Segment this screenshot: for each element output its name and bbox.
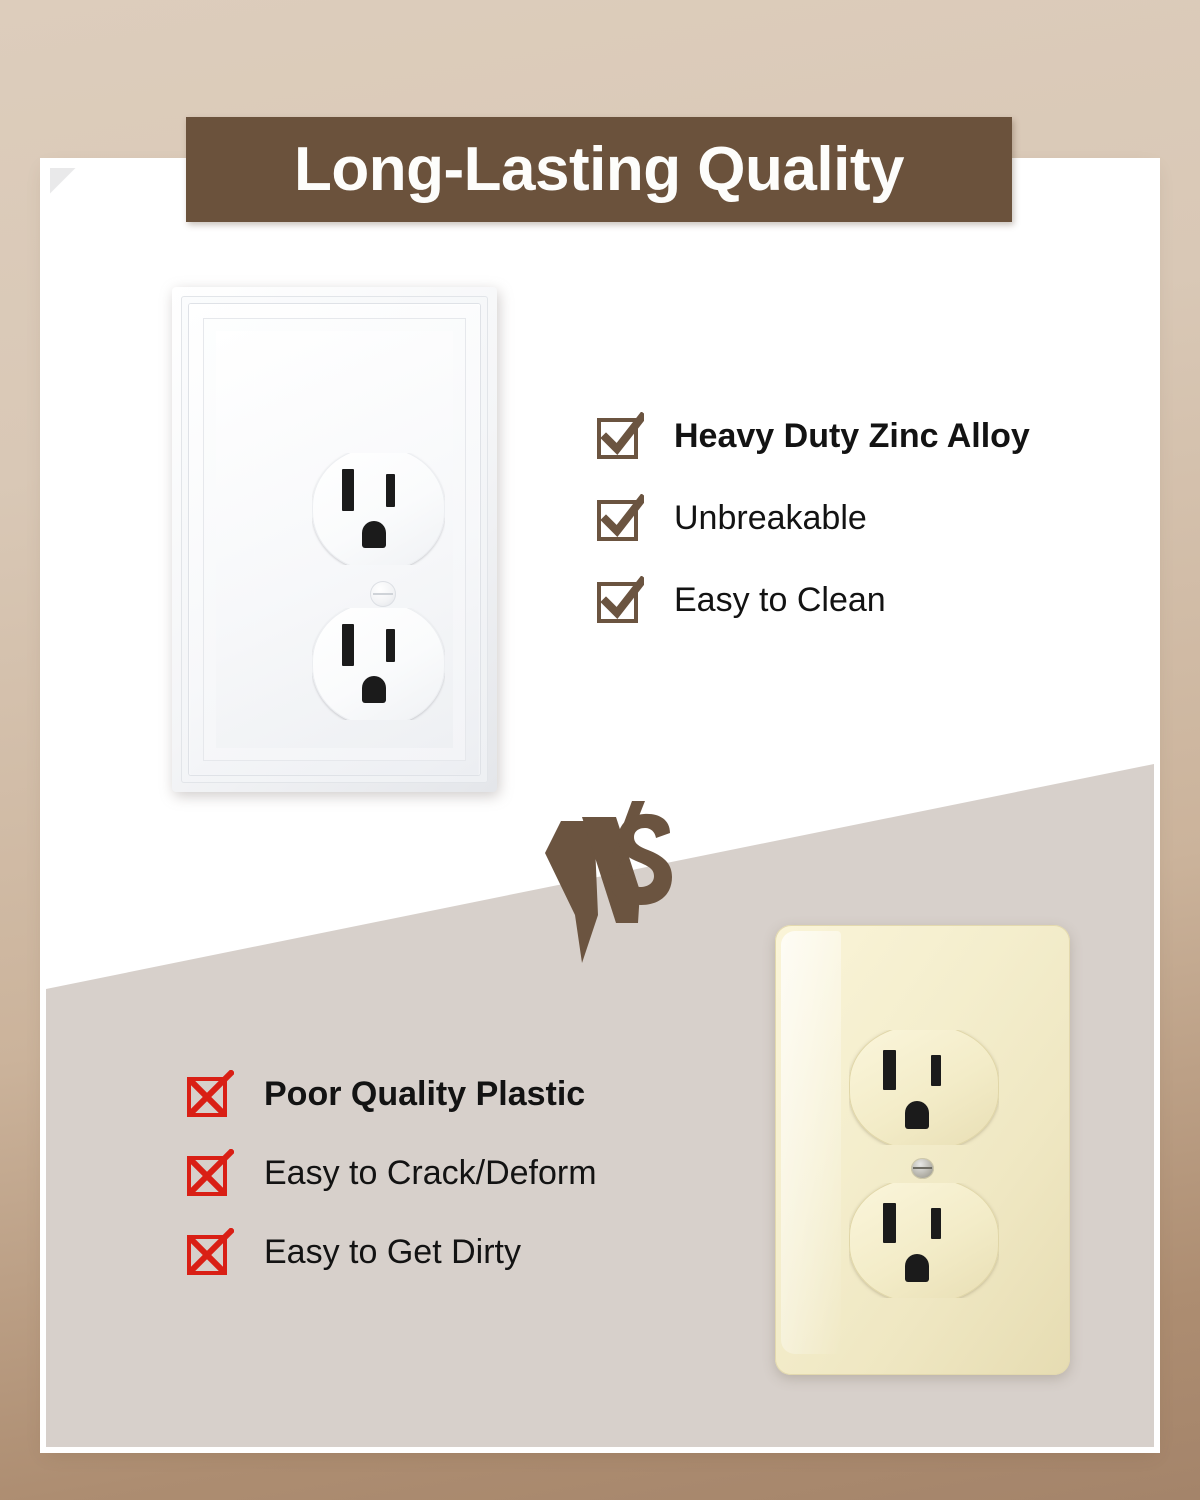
cross-box-icon bbox=[186, 1149, 234, 1197]
receptacle-top-ivory bbox=[849, 1025, 999, 1150]
receptacle-body bbox=[312, 447, 445, 571]
neutral-slot bbox=[342, 469, 354, 511]
list-item: Easy to Get Dirty bbox=[186, 1228, 597, 1276]
ground-hole bbox=[905, 1254, 929, 1282]
neutral-slot bbox=[883, 1050, 896, 1090]
receptacle-bottom-ivory bbox=[849, 1178, 999, 1303]
center-screw-ivory bbox=[911, 1158, 934, 1179]
list-item-label: Poor Quality Plastic bbox=[264, 1077, 585, 1111]
hot-slot bbox=[931, 1208, 941, 1239]
check-box-icon bbox=[596, 494, 644, 542]
hot-slot bbox=[931, 1055, 941, 1086]
plate-face bbox=[216, 331, 453, 748]
receptacle-bottom-white bbox=[312, 602, 445, 726]
hot-slot bbox=[386, 474, 395, 507]
list-item-label: Heavy Duty Zinc Alloy bbox=[674, 419, 1030, 453]
benefits-list: Heavy Duty Zinc Alloy Unbreakable Easy t… bbox=[596, 412, 1030, 624]
white-wall-plate-image bbox=[172, 287, 497, 792]
ground-hole bbox=[362, 521, 386, 548]
drawbacks-list: Poor Quality Plastic Easy to Crack/Defor… bbox=[186, 1070, 597, 1307]
check-box-icon bbox=[596, 576, 644, 624]
neutral-slot bbox=[342, 624, 354, 666]
vs-lightning-icon bbox=[520, 795, 700, 975]
receptacle-body bbox=[849, 1025, 999, 1150]
list-item: Easy to Clean bbox=[596, 576, 1030, 624]
list-item-label: Easy to Clean bbox=[674, 583, 886, 617]
check-box-icon bbox=[596, 412, 644, 460]
receptacle-body bbox=[849, 1178, 999, 1303]
list-item: Heavy Duty Zinc Alloy bbox=[596, 412, 1030, 460]
list-item: Easy to Crack/Deform bbox=[186, 1149, 597, 1197]
title-banner: Long-Lasting Quality bbox=[186, 117, 1012, 222]
card-corner-fold bbox=[50, 168, 76, 194]
list-item-label: Easy to Crack/Deform bbox=[264, 1156, 597, 1190]
ground-hole bbox=[905, 1101, 929, 1129]
neutral-slot bbox=[883, 1203, 896, 1243]
ground-hole bbox=[362, 676, 386, 703]
receptacle-top-white bbox=[312, 447, 445, 571]
cross-box-icon bbox=[186, 1228, 234, 1276]
list-item: Unbreakable bbox=[596, 494, 1030, 542]
page-title: Long-Lasting Quality bbox=[294, 139, 904, 201]
list-item-label: Easy to Get Dirty bbox=[264, 1235, 521, 1269]
ivory-wall-plate-image bbox=[775, 925, 1070, 1375]
plate-highlight bbox=[781, 931, 841, 1354]
list-item-label: Unbreakable bbox=[674, 501, 867, 535]
hot-slot bbox=[386, 629, 395, 662]
cross-box-icon bbox=[186, 1070, 234, 1118]
list-item: Poor Quality Plastic bbox=[186, 1070, 597, 1118]
receptacle-body bbox=[312, 602, 445, 726]
